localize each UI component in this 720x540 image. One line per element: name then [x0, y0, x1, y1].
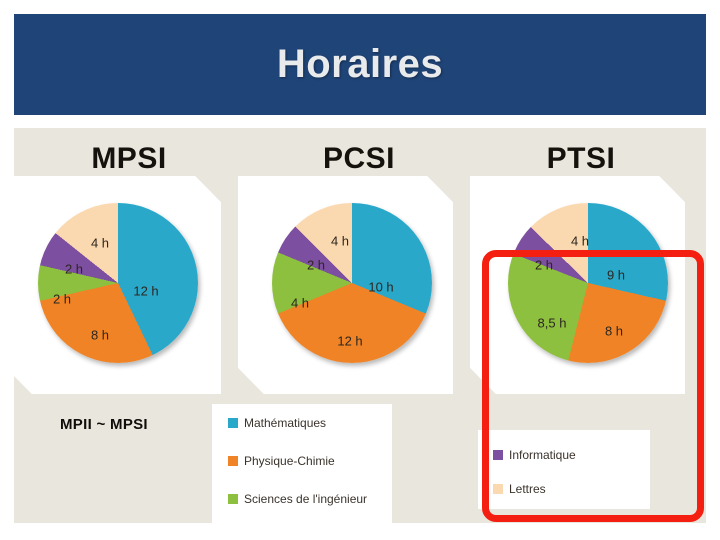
legend-swatch-icon	[493, 484, 503, 494]
page-title: Horaires	[277, 42, 443, 87]
pie-slice-label-pcsi-3: 2 h	[307, 258, 325, 273]
pie-slice-label-mpsi-2: 2 h	[53, 292, 71, 307]
legend-item-right-1: Lettres	[493, 482, 546, 496]
legend-box-left: MathématiquesPhysique-ChimieSciences de …	[212, 404, 392, 523]
legend-item-label: Physique-Chimie	[244, 454, 335, 468]
pie-slice-label-ptsi-3: 2 h	[535, 258, 553, 273]
content-panel: MPSI PCSI PTSI 12 h8 h2 h2 h4 h 10 h12 h…	[14, 128, 706, 523]
pie-slice-label-mpsi-4: 4 h	[91, 236, 109, 251]
legend-item-left-2: Sciences de l'ingénieur	[228, 492, 367, 506]
legend-item-label: Lettres	[509, 482, 546, 496]
column-heading-pcsi: PCSI	[254, 142, 464, 176]
slide-root: Horaires MPSI PCSI PTSI 12 h8 h2 h2 h4 h…	[0, 0, 720, 540]
pie-slice-label-pcsi-1: 12 h	[337, 334, 362, 349]
column-heading-ptsi: PTSI	[476, 142, 686, 176]
legend-swatch-icon	[228, 456, 238, 466]
column-heading-mpsi: MPSI	[24, 142, 234, 176]
pie-slice-label-pcsi-2: 4 h	[291, 296, 309, 311]
legend-item-left-1: Physique-Chimie	[228, 454, 335, 468]
pie-slice-label-ptsi-0: 9 h	[607, 268, 625, 283]
pie-slice-label-pcsi-0: 10 h	[368, 280, 393, 295]
chart-card-pcsi: 10 h12 h4 h2 h4 h	[238, 176, 453, 394]
pie-chart-ptsi	[508, 203, 668, 363]
legend-box-right: InformatiqueLettres	[478, 430, 650, 509]
legend-item-label: Informatique	[509, 448, 576, 462]
title-bar: Horaires	[14, 14, 706, 115]
chart-card-ptsi: 9 h8 h8,5 h2 h4 h	[470, 176, 685, 394]
legend-swatch-icon	[493, 450, 503, 460]
mpii-note: MPII ~ MPSI	[60, 416, 148, 433]
chart-card-mpsi: 12 h8 h2 h2 h4 h	[6, 176, 221, 394]
legend-swatch-icon	[228, 418, 238, 428]
legend-item-label: Mathématiques	[244, 416, 326, 430]
pie-slice-label-ptsi-2: 8,5 h	[538, 316, 567, 331]
legend-item-right-0: Informatique	[493, 448, 576, 462]
pie-slice-label-ptsi-4: 4 h	[571, 234, 589, 249]
pie-chart-mpsi	[38, 203, 198, 363]
pie-slice-label-mpsi-3: 2 h	[65, 262, 83, 277]
pie-slice-label-mpsi-1: 8 h	[91, 328, 109, 343]
legend-swatch-icon	[228, 494, 238, 504]
legend-item-label: Sciences de l'ingénieur	[244, 492, 367, 506]
pie-slice-label-ptsi-1: 8 h	[605, 324, 623, 339]
pie-slice-label-mpsi-0: 12 h	[133, 284, 158, 299]
pie-slice-label-pcsi-4: 4 h	[331, 234, 349, 249]
legend-item-left-0: Mathématiques	[228, 416, 326, 430]
